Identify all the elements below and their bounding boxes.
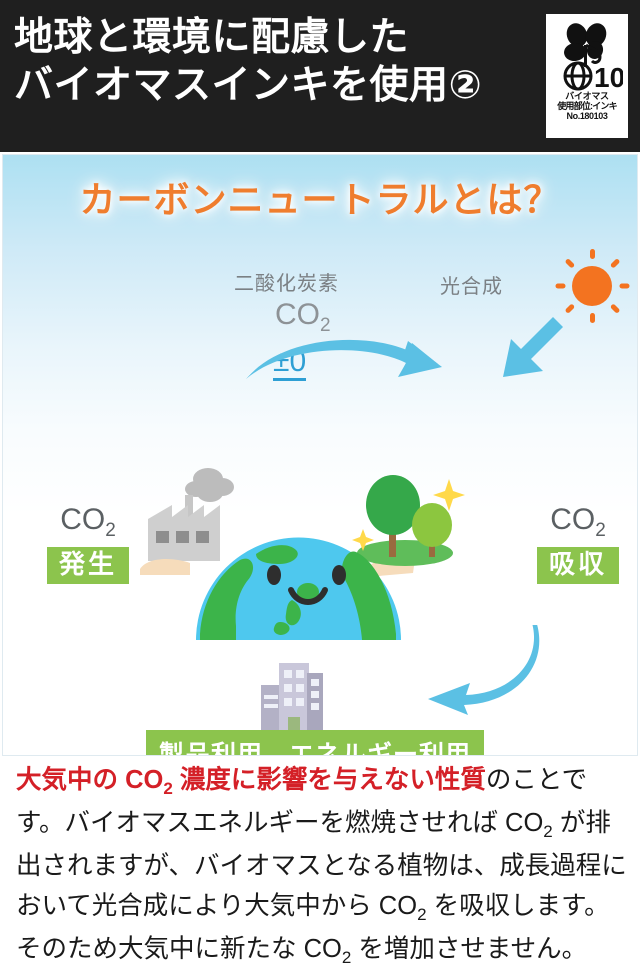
co2-left-text: CO <box>60 503 105 536</box>
highlight-phrase-a: 大気中の CO <box>16 766 163 794</box>
label-carbon-dioxide-jp: 二酸化炭素 <box>234 267 339 296</box>
co2-absorption-group: CO2 吸収 <box>523 505 633 584</box>
paragraph-sub-2: 2 <box>543 822 552 841</box>
co2-text: CO <box>275 298 320 331</box>
sun-core <box>572 266 612 306</box>
co2-emission-group: CO2 発生 <box>33 505 143 584</box>
highlight-phrase-b: 濃度に影響を与えない性質 <box>173 766 486 794</box>
building-icon <box>255 657 329 739</box>
sun-icon <box>555 249 629 323</box>
header-bar: 地球と環境に配慮した バイオマスインキを使用② <box>0 0 640 152</box>
co2-left-sub: 2 <box>105 520 116 541</box>
earth-character <box>196 530 401 640</box>
biomass-percent-number: 10 <box>594 62 623 93</box>
description-paragraph: 大気中の CO2 濃度に影響を与えない性質のことです。バイオマスエネルギーを燃焼… <box>16 760 630 972</box>
biomass-caption-line-3: No.180103 <box>557 111 617 121</box>
badge-product-energy-usage: 製品利用、エネルギー利用 <box>146 730 484 756</box>
biomass-mark-logo: 10 バイオマス 使用部位:インキ No.180103 <box>546 14 628 138</box>
arrow-emission-to-trees-icon <box>246 333 446 399</box>
title-line-2: バイオマスインキを使用② <box>14 62 514 110</box>
badge-absorption: 吸収 <box>537 547 619 584</box>
arrow-recycle-back-icon <box>418 625 548 715</box>
co2-label-right: CO2 <box>523 505 633 540</box>
infographic-page: 地球と環境に配慮した バイオマスインキを使用② <box>0 0 640 968</box>
biomass-clover-icon: 10 <box>551 19 623 93</box>
label-co2-formula: CO2 <box>275 298 331 337</box>
co2-right-sub: 2 <box>595 520 606 541</box>
arrow-sunlight-icon <box>483 315 569 401</box>
paragraph-text-2: バイオマスエネルギーを燃焼させれば CO <box>64 809 543 837</box>
carbon-neutral-illustration-panel: カーボンニュートラルとは？ 二酸化炭素 光合成 CO2 ±0 <box>2 154 638 756</box>
co2-right-text: CO <box>550 503 595 536</box>
page-title: 地球と環境に配慮した バイオマスインキを使用② <box>14 14 514 109</box>
biomass-mark-caption: バイオマス 使用部位:インキ No.180103 <box>557 91 617 121</box>
panel-title: カーボンニュートラルとは？ <box>3 171 637 223</box>
badge-emission: 発生 <box>47 547 129 584</box>
biomass-caption-line-2: 使用部位:インキ <box>557 101 617 111</box>
title-line-1: 地球と環境に配慮した <box>14 16 409 59</box>
co2-label-left: CO2 <box>33 505 143 540</box>
label-photosynthesis: 光合成 <box>440 270 503 299</box>
highlight-sub-a: 2 <box>163 779 172 798</box>
paragraph-sub-4: 2 <box>342 948 351 967</box>
paragraph-sub-3: 2 <box>417 905 426 924</box>
paragraph-text-5: を増加させません。 <box>351 935 587 963</box>
